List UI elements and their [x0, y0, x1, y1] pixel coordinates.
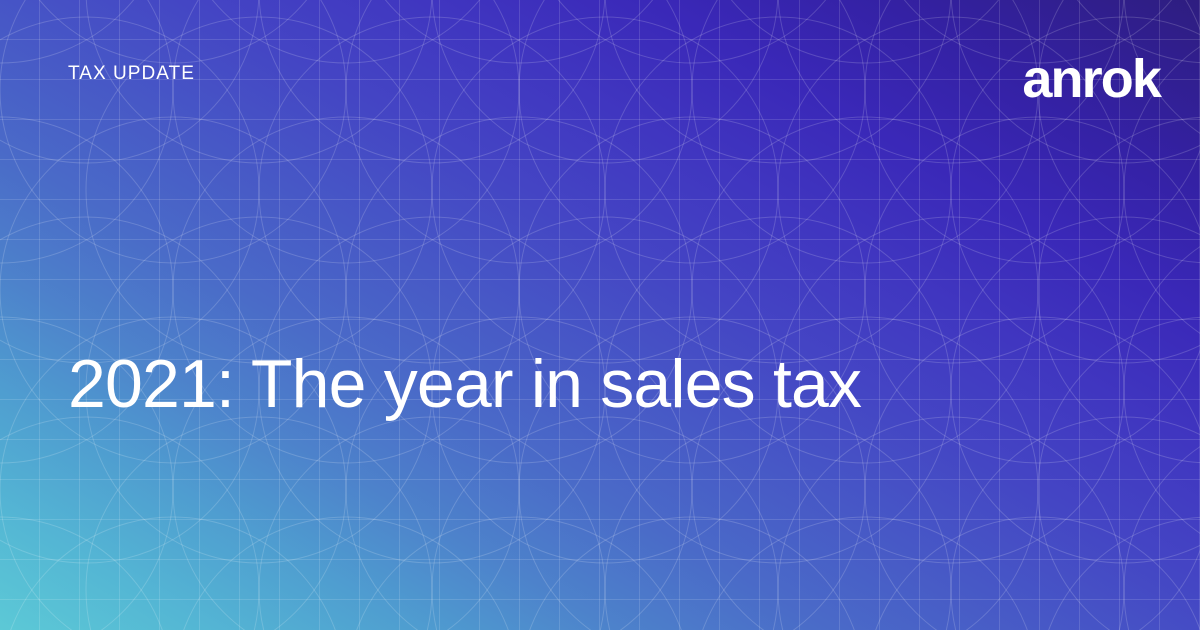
eyebrow-label: TAX UPDATE — [68, 64, 195, 83]
background-grid-pattern — [0, 0, 1200, 630]
page-title: 2021: The year in sales tax — [68, 346, 1108, 422]
background-arc-pattern — [0, 0, 1200, 630]
anrok-logo: anrok — [1022, 52, 1160, 106]
social-share-banner: TAX UPDATE anrok 2021: The year in sales… — [0, 0, 1200, 630]
